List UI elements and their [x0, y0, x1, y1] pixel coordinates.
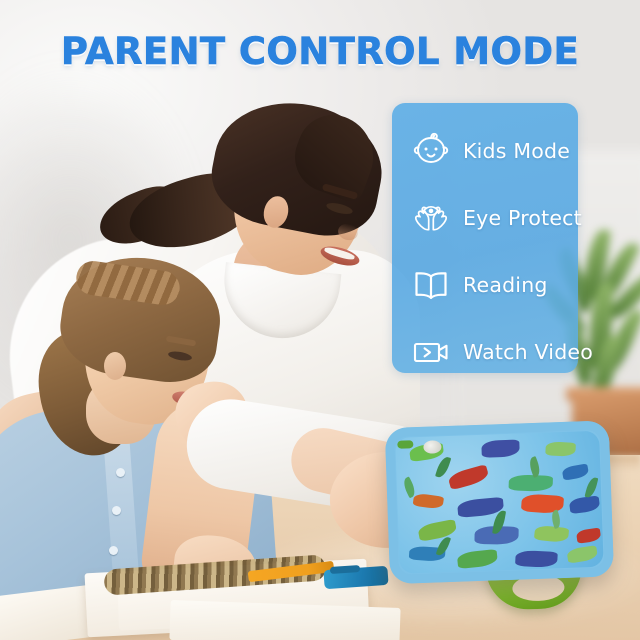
feature-item-eye-protect[interactable]: Eye Protect — [392, 184, 578, 251]
feature-item-watch-video[interactable]: Watch Video — [392, 318, 578, 385]
kids-tablet-case — [385, 420, 627, 618]
feature-panel: Kids Mode Eye Protect Reading — [392, 103, 578, 373]
baby-face-icon — [406, 129, 456, 173]
video-camera-icon — [406, 330, 456, 374]
open-book-icon — [406, 263, 456, 307]
feature-item-kids-mode[interactable]: Kids Mode — [392, 117, 578, 184]
feature-label: Watch Video — [463, 340, 593, 364]
tablet-case-body — [385, 420, 614, 584]
feature-label: Kids Mode — [463, 139, 570, 163]
tablet-power-button — [397, 440, 413, 449]
feature-item-reading[interactable]: Reading — [392, 251, 578, 318]
loose-paper-bottom — [169, 600, 400, 640]
feature-label: Reading — [463, 273, 548, 297]
page-title: PARENT CONTROL MODE — [0, 30, 640, 73]
hands-eye-icon — [406, 196, 456, 240]
feature-label: Eye Protect — [463, 206, 582, 230]
